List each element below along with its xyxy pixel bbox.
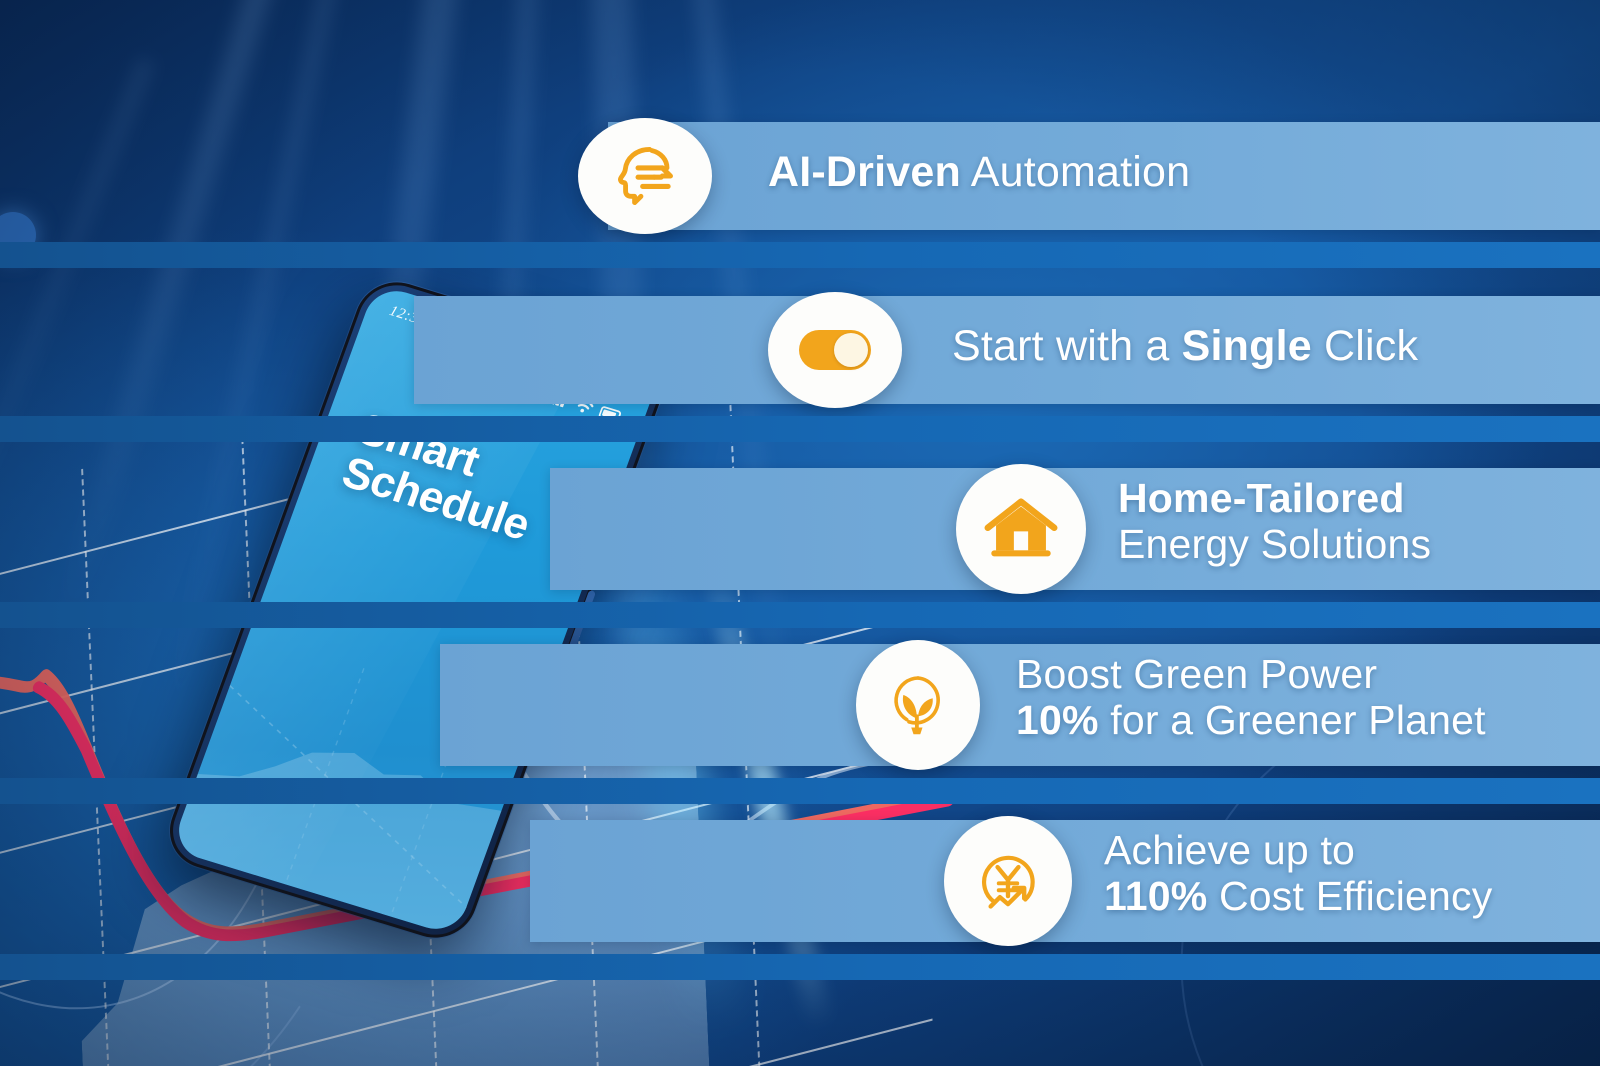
feature-label-bold: AI-Driven — [768, 148, 961, 196]
cost-efficiency-yen-icon — [971, 844, 1045, 918]
feature-label-line1: Boost Green Power — [1016, 652, 1486, 698]
accent-divider-bar — [0, 242, 1600, 268]
feature-label-line1: Achieve up to — [1104, 828, 1492, 874]
feature-label-line2: 110% Cost Efficiency — [1104, 874, 1492, 920]
feature-label-line1: Home-Tailored — [1118, 476, 1431, 522]
feature-row-single-click[interactable]: Start with a Single Click — [0, 296, 1600, 404]
accent-divider-bar — [0, 778, 1600, 804]
eco-plant-plug-icon — [882, 669, 954, 741]
ai-head-icon — [608, 139, 682, 213]
feature-badge — [768, 292, 902, 408]
feature-badge — [856, 640, 980, 770]
feature-label: Start with a Single Click — [952, 322, 1418, 370]
feature-label-line2-rest: Cost Efficiency — [1207, 873, 1492, 919]
feature-badge — [578, 118, 712, 234]
feature-label: Boost Green Power 10% for a Greener Plan… — [1016, 652, 1486, 744]
toggle-switch-icon[interactable] — [799, 330, 871, 370]
feature-badge — [944, 816, 1072, 946]
accent-divider-bar — [0, 416, 1600, 442]
feature-label-line2: 10% for a Greener Planet — [1016, 698, 1486, 744]
feature-label-regular: Start with a — [952, 322, 1182, 370]
feature-label-value: 110% — [1104, 873, 1207, 919]
feature-row-green-power[interactable]: Boost Green Power 10% for a Greener Plan… — [0, 644, 1600, 766]
feature-label-bold: Single — [1182, 322, 1312, 370]
feature-row-ai-driven[interactable]: AI-Driven Automation — [0, 122, 1600, 230]
home-icon — [983, 491, 1059, 567]
feature-label-regular: Automation — [961, 148, 1190, 196]
feature-label-regular-end: Click — [1312, 322, 1418, 370]
feature-label: Achieve up to 110% Cost Efficiency — [1104, 828, 1492, 920]
feature-label-line2: Energy Solutions — [1118, 522, 1431, 568]
accent-divider-bar — [0, 954, 1600, 980]
feature-row-home-tailored[interactable]: Home-Tailored Energy Solutions — [0, 468, 1600, 590]
feature-badge — [956, 464, 1086, 594]
accent-divider-bar — [0, 602, 1600, 628]
feature-label: AI-Driven Automation — [768, 148, 1190, 196]
infographic-canvas: 12:35 S — [0, 0, 1600, 1066]
feature-list: AI-Driven Automation Start with a Single… — [0, 0, 1600, 1066]
feature-label: Home-Tailored Energy Solutions — [1118, 476, 1431, 568]
feature-label-line2-rest: for a Greener Planet — [1099, 697, 1486, 743]
feature-row-cost-efficiency[interactable]: Achieve up to 110% Cost Efficiency — [0, 820, 1600, 942]
feature-label-value: 10% — [1016, 697, 1099, 743]
toggle-knob — [834, 333, 868, 367]
